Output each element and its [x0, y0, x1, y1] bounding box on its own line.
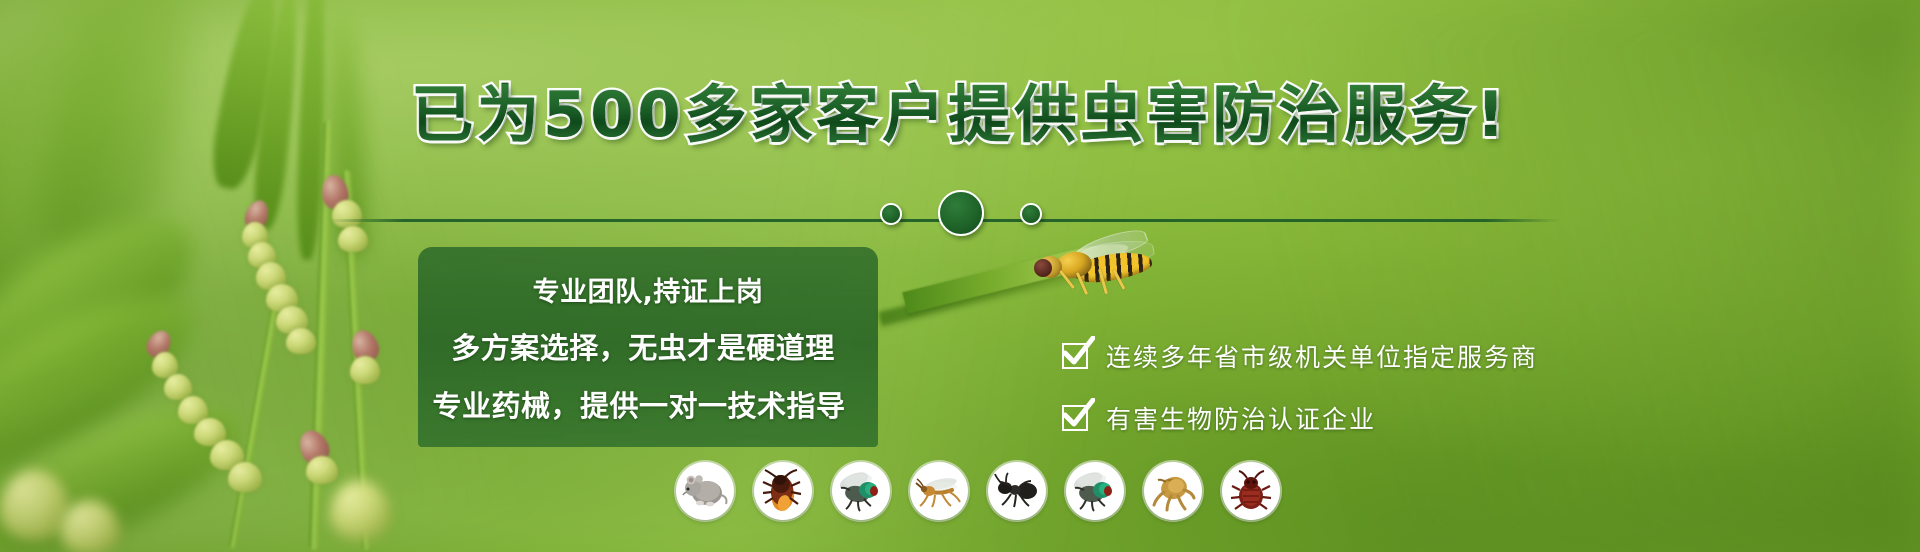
- certification-list: 连续多年省市级机关单位指定服务商 有害生物防治认证企业: [1062, 338, 1538, 462]
- hoverfly-icon: [1030, 238, 1160, 300]
- check-icon: [1062, 343, 1088, 369]
- decorative-dots: [880, 190, 1060, 234]
- fly-icon-2[interactable]: [1066, 462, 1124, 520]
- feature-line-3: 专业药械，提供一对一技术指导: [432, 383, 845, 425]
- list-item-label: 连续多年省市级机关单位指定服务商: [1106, 338, 1538, 374]
- feature-line-1: 专业团队,持证上岗: [533, 270, 764, 309]
- flea-icon[interactable]: [1144, 462, 1202, 520]
- list-item: 有害生物防治认证企业: [1062, 400, 1538, 436]
- dot-small-right: [1020, 203, 1042, 225]
- feature-panel-text: 专业团队,持证上岗 多方案选择，无虫才是硬道理 专业药械，提供一对一技术指导: [418, 247, 878, 447]
- mouse-icon[interactable]: [676, 462, 734, 520]
- dot-small-left: [880, 203, 902, 225]
- pest-control-banner: 已为500多家客户提供虫害防治服务! 已为500多家客户提供虫害防治服务! 专业…: [0, 0, 1920, 552]
- dot-large: [938, 190, 984, 236]
- feature-line-2: 多方案选择，无虫才是硬道理: [451, 325, 835, 367]
- mosquito-icon[interactable]: [910, 462, 968, 520]
- ant-icon[interactable]: [988, 462, 1046, 520]
- page-title: 已为500多家客户提供虫害防治服务!: [0, 84, 1920, 146]
- list-item-label: 有害生物防治认证企业: [1106, 400, 1376, 436]
- pest-icon-row: [676, 462, 1280, 520]
- list-item: 连续多年省市级机关单位指定服务商: [1062, 338, 1538, 374]
- bedbug-icon[interactable]: [1222, 462, 1280, 520]
- fly-icon[interactable]: [832, 462, 890, 520]
- cockroach-icon[interactable]: [754, 462, 812, 520]
- check-icon: [1062, 405, 1088, 431]
